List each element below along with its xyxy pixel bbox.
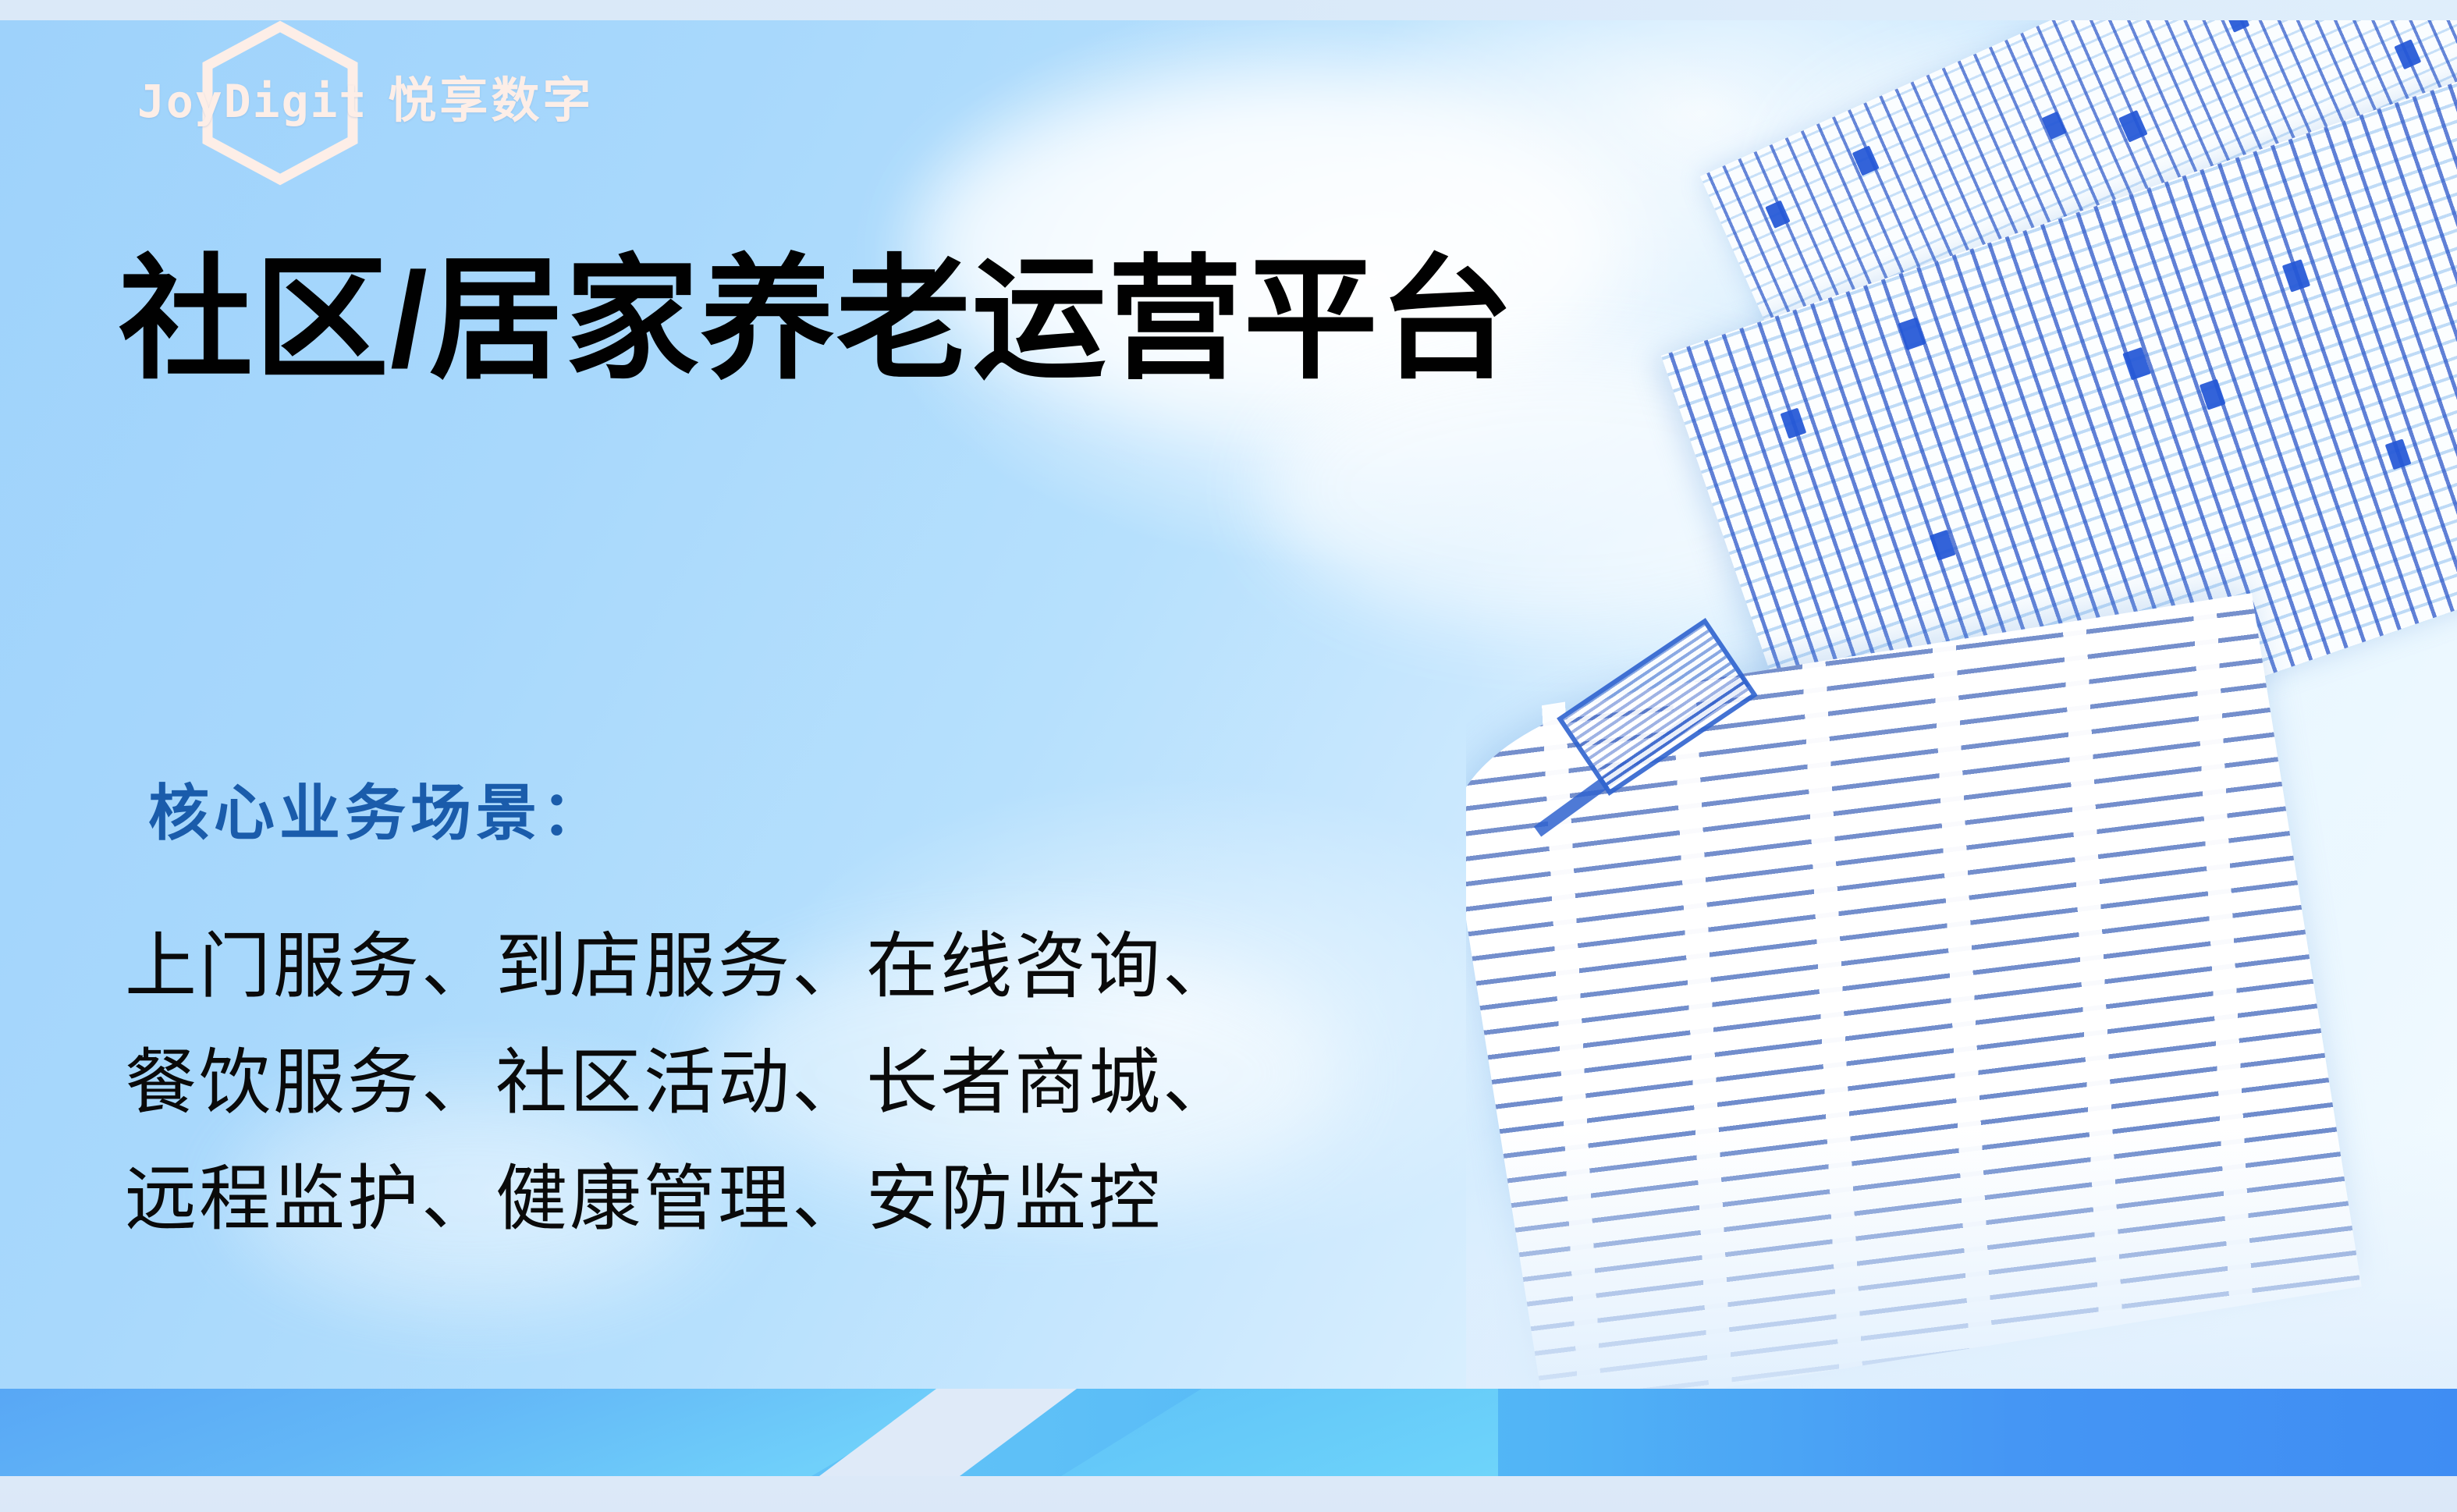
band-left-parallelogram bbox=[0, 1389, 960, 1476]
bottom-haze bbox=[1466, 1130, 2457, 1395]
footer-decorative-band bbox=[0, 1389, 2457, 1512]
top-edge-strip bbox=[0, 0, 2457, 20]
slide-canvas: JoyDigit 悦享数字 社区/居家养老运营平台 核心业务场景： 上门服务、到… bbox=[0, 0, 2457, 1512]
brand-logo-text: JoyDigit 悦享数字 bbox=[137, 61, 594, 131]
brand-logo-cn: 悦享数字 bbox=[388, 61, 594, 131]
page-title: 社区/居家养老运营平台 bbox=[119, 250, 1515, 391]
brand-logo[interactable]: JoyDigit 悦享数字 bbox=[137, 61, 594, 131]
section-heading: 核心业务场景： bbox=[148, 765, 607, 852]
scenario-list: 上门服务、到店服务、在线咨询、 餐饮服务、社区活动、长者商城、 远程监护、健康管… bbox=[125, 909, 1237, 1258]
list-item: 远程监护、健康管理、安防监控 bbox=[125, 1141, 1237, 1258]
brand-logo-en: JoyDigit bbox=[137, 75, 367, 128]
list-item: 上门服务、到店服务、在线咨询、 bbox=[125, 909, 1237, 1025]
skyscraper-photo bbox=[1466, 20, 2457, 1395]
list-item: 餐饮服务、社区活动、长者商城、 bbox=[125, 1025, 1237, 1141]
